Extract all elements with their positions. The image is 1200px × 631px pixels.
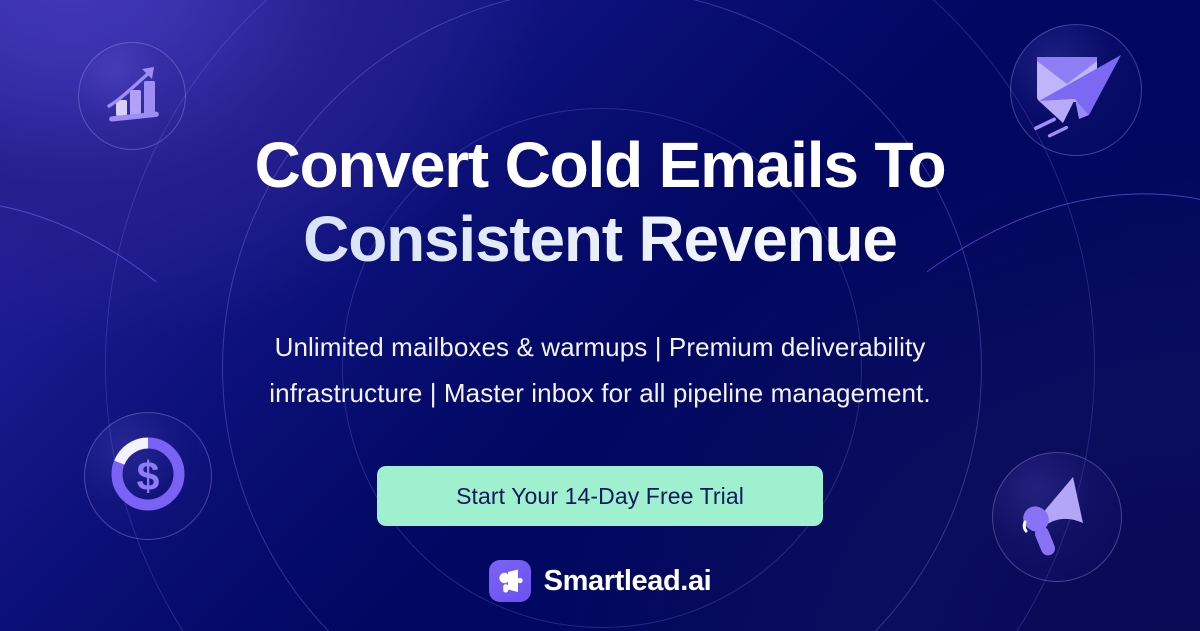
hero-banner: $ Convert Cold Emails To Consistent Reve… <box>0 0 1200 631</box>
brand-name: Smartlead.ai <box>544 565 712 598</box>
headline-line-2: Consistent Revenue <box>0 202 1200 276</box>
brand-lockup[interactable]: Smartlead.ai <box>0 560 1200 602</box>
brand-logo-mark <box>489 560 531 602</box>
page-title: Convert Cold Emails To Consistent Revenu… <box>0 128 1200 276</box>
cta-container: Start Your 14-Day Free Trial <box>0 466 1200 526</box>
start-free-trial-button[interactable]: Start Your 14-Day Free Trial <box>377 466 823 526</box>
hero-content: Convert Cold Emails To Consistent Revenu… <box>0 0 1200 602</box>
hero-subheadline: Unlimited mailboxes & warmups | Premium … <box>195 324 1005 416</box>
headline-line-1: Convert Cold Emails To <box>0 128 1200 202</box>
